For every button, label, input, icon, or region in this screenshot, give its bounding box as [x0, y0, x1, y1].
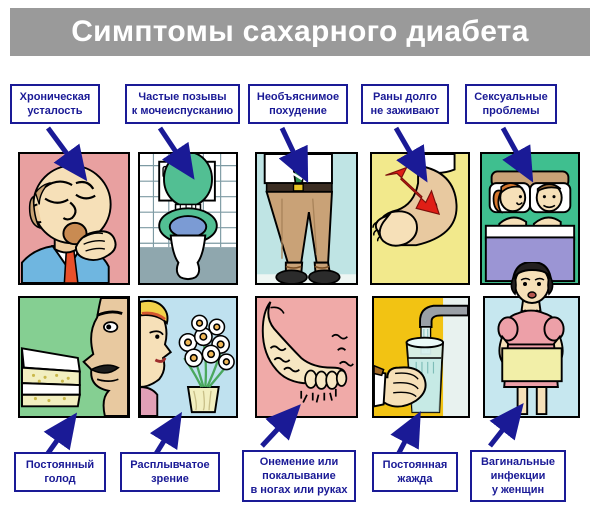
- label-line: Хроническая: [20, 90, 91, 104]
- label-line: Сексуальные: [474, 90, 548, 104]
- label-line: не заживают: [370, 104, 439, 118]
- label-constant-thirst[interactable]: Постоянная жажда: [372, 452, 458, 492]
- infographic-root: Симптомы сахарного диабета Хроническая у…: [0, 0, 600, 514]
- label-line: покалывание: [250, 469, 347, 483]
- label-line: к мочеиспусканию: [132, 104, 233, 118]
- label-slow-healing[interactable]: Раны долго не заживают: [361, 84, 449, 124]
- foot-tingling-illustration: [257, 298, 356, 416]
- label-line: у женщин: [481, 483, 555, 497]
- label-vaginal-infections[interactable]: Вагинальные инфекции у женщин: [470, 450, 566, 502]
- label-blurry-vision[interactable]: Расплывчатое зрение: [120, 452, 220, 492]
- panel-woman-sign: [483, 296, 580, 418]
- label-line: проблемы: [474, 104, 548, 118]
- label-sexual-problems[interactable]: Сексуальные проблемы: [465, 84, 557, 124]
- label-line: Вагинальные: [481, 455, 555, 469]
- panel-toilet: [138, 152, 238, 285]
- loose-pants-illustration: [257, 154, 356, 283]
- cake-hunger-illustration: [20, 298, 128, 416]
- title-banner: Симптомы сахарного диабета: [10, 8, 590, 56]
- woman-sign-illustration: [485, 298, 578, 416]
- label-line: Раны долго: [370, 90, 439, 104]
- panel-cake-hunger: [18, 296, 130, 418]
- arrow-to-foot-tingling: [262, 418, 288, 446]
- label-numbness[interactable]: Онемение или покалывание в ногах или рук…: [242, 450, 356, 502]
- toilet-illustration: [140, 154, 236, 283]
- panel-tired-man: [18, 152, 130, 285]
- label-line: голод: [26, 472, 94, 486]
- label-line: усталость: [20, 104, 91, 118]
- label-line: Постоянная: [383, 458, 448, 472]
- label-line: зрение: [130, 472, 209, 486]
- panel-loose-pants: [255, 152, 358, 285]
- panel-glass-faucet: [372, 296, 470, 418]
- label-line: Постоянный: [26, 458, 94, 472]
- panel-foot-tingling: [255, 296, 358, 418]
- label-line: похудение: [257, 104, 339, 118]
- arm-wound-illustration: [372, 154, 468, 283]
- label-line: жажда: [383, 472, 448, 486]
- label-line: Необъяснимое: [257, 90, 339, 104]
- label-weight-loss[interactable]: Необъяснимое похудение: [248, 84, 348, 124]
- label-chronic-fatigue[interactable]: Хроническая усталость: [10, 84, 100, 124]
- label-line: в ногах или руках: [250, 483, 347, 497]
- flowers-vision-illustration: [140, 298, 236, 416]
- panel-flowers-vision: [138, 296, 238, 418]
- page-title: Симптомы сахарного диабета: [71, 17, 529, 47]
- label-frequent-urination[interactable]: Частые позывы к мочеиспусканию: [125, 84, 240, 124]
- label-line: инфекции: [481, 469, 555, 483]
- panel-arm-wound: [370, 152, 470, 285]
- label-line: Онемение или: [250, 455, 347, 469]
- woman-head-overflow: [505, 262, 559, 304]
- glass-faucet-illustration: [374, 298, 468, 416]
- label-line: Частые позывы: [132, 90, 233, 104]
- tired-man-illustration: [20, 154, 128, 283]
- label-constant-hunger[interactable]: Постоянный голод: [14, 452, 106, 492]
- arrow-to-woman-sign: [490, 418, 512, 446]
- label-line: Расплывчатое: [130, 458, 209, 472]
